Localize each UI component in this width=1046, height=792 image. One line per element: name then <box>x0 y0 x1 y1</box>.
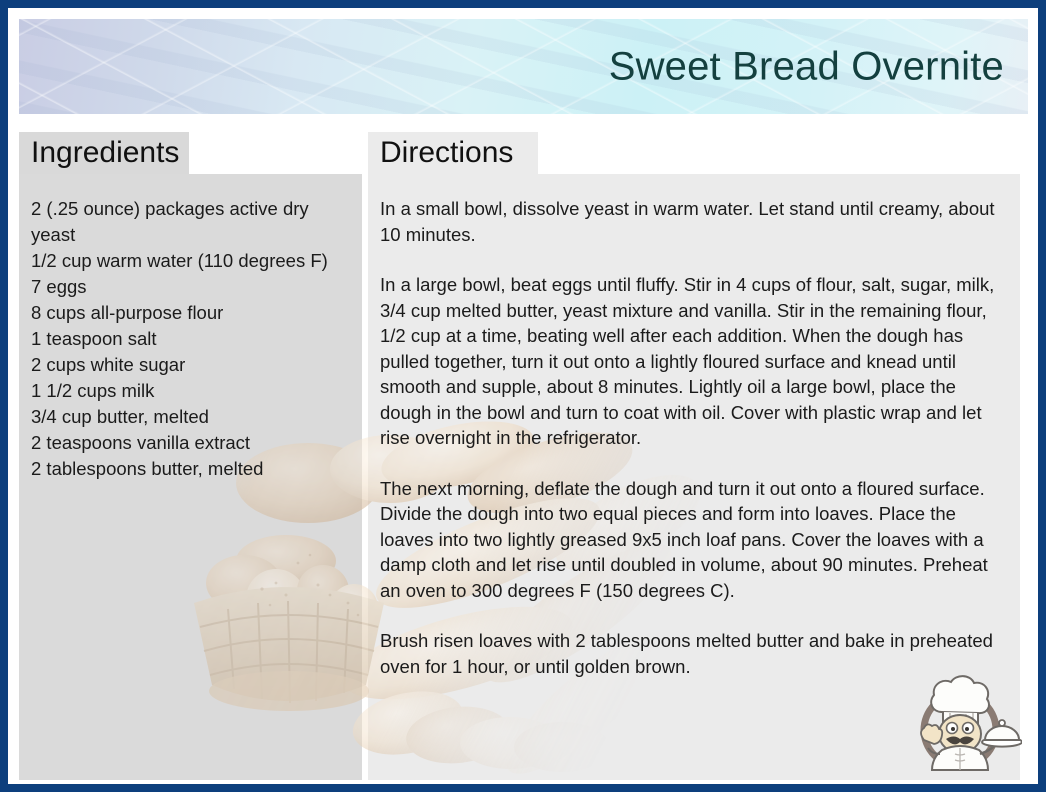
ingredients-tab: Ingredients <box>19 132 189 174</box>
chef-with-cloche-logo <box>902 668 1022 772</box>
list-item: 8 cups all-purpose flour <box>31 300 348 326</box>
ingredients-tab-label: Ingredients <box>31 138 179 168</box>
list-item: 2 teaspoons vanilla extract <box>31 430 348 456</box>
direction-paragraph: In a large bowl, beat eggs until fluffy.… <box>380 272 1005 451</box>
list-item: 2 cups white sugar <box>31 352 348 378</box>
direction-paragraph: The next morning, deflate the dough and … <box>380 476 1005 604</box>
directions-tab: Directions <box>368 132 538 174</box>
ingredients-panel: Ingredients 2 (.25 ounce) packages activ… <box>19 132 362 780</box>
directions-tab-label: Directions <box>380 138 513 168</box>
recipe-page: Sweet Bread Overnite Ingredients 2 (.25 … <box>8 8 1038 784</box>
list-item: 1 1/2 cups milk <box>31 378 348 404</box>
header-banner: Sweet Bread Overnite <box>19 19 1028 114</box>
list-item: 1 teaspoon salt <box>31 326 348 352</box>
list-item: 2 (.25 ounce) packages active dry yeast <box>31 196 348 248</box>
list-item: 7 eggs <box>31 274 348 300</box>
list-item: 3/4 cup butter, melted <box>31 404 348 430</box>
page-title: Sweet Bread Overnite <box>609 44 1004 89</box>
ingredients-list: 2 (.25 ounce) packages active dry yeast … <box>19 174 362 780</box>
recipe-card: Sweet Bread Overnite Ingredients 2 (.25 … <box>0 0 1046 792</box>
direction-paragraph: In a small bowl, dissolve yeast in warm … <box>380 196 1005 247</box>
list-item: 1/2 cup warm water (110 degrees F) <box>31 248 348 274</box>
list-item: 2 tablespoons butter, melted <box>31 456 348 482</box>
